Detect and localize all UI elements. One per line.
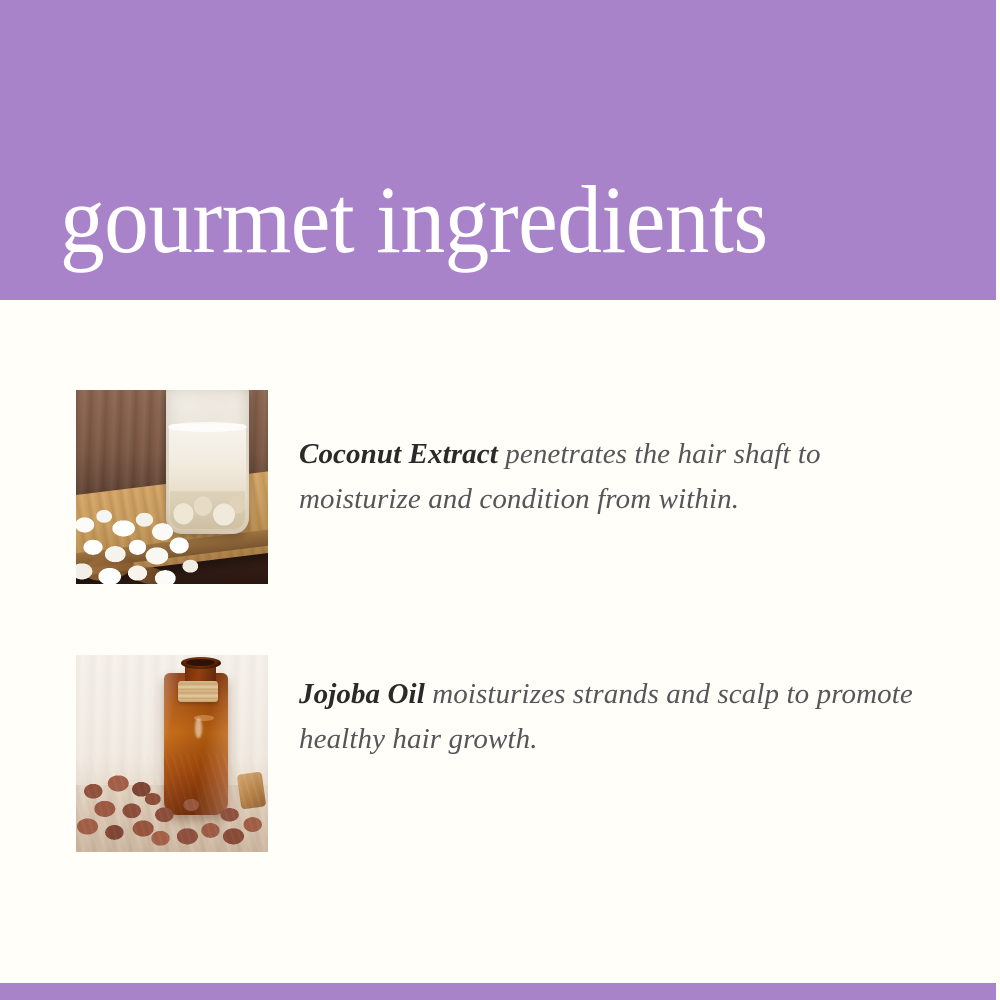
jojoba-oil-image <box>76 655 268 852</box>
jojoba-oil-description: Jojoba Oil moisturizes strands and scalp… <box>299 672 919 762</box>
footer-band <box>0 983 996 1000</box>
coconut-extract-description: Coconut Extract penetrates the hair shaf… <box>299 432 899 522</box>
jojoba-oil-lead: Jojoba Oil <box>299 678 425 710</box>
jojoba-seeds-texture <box>76 754 268 853</box>
page-title: gourmet ingredients <box>60 168 878 272</box>
ingredient-row-jojoba-oil: Jojoba Oil moisturizes strands and scalp… <box>0 655 1000 852</box>
header-band: gourmet ingredients <box>0 0 996 300</box>
jojoba-bottle-highlight <box>195 718 201 738</box>
ingredient-row-coconut-extract: Coconut Extract penetrates the hair shaf… <box>0 390 1000 584</box>
ingredients-list: Coconut Extract penetrates the hair shaf… <box>0 300 1000 984</box>
coconut-extract-image <box>76 390 268 584</box>
shredded-coconut-pile <box>76 506 207 584</box>
coconut-milk-surface <box>168 422 247 432</box>
ingredients-infographic: gourmet ingredients Cocon <box>0 0 1000 1000</box>
jojoba-bottle-rope-wrap <box>178 681 218 703</box>
coconut-extract-lead: Coconut Extract <box>299 438 498 470</box>
